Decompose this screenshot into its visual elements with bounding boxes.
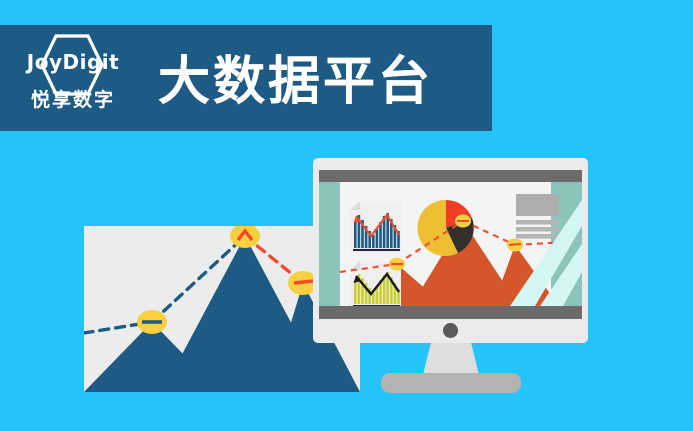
brand-logo: JoyDigit 悦享数字 (14, 32, 132, 124)
screen-content (319, 182, 582, 306)
header-banner: JoyDigit 悦享数字 大数据平台 (0, 25, 492, 131)
screen-band-left (319, 182, 340, 306)
page-title: 大数据平台 (158, 39, 433, 114)
monitor-power-button[interactable] (443, 323, 458, 338)
pie-chart (417, 200, 473, 256)
monitor-stand-neck (423, 343, 479, 375)
monitor-bottom-bezel (319, 306, 582, 319)
illustration-canvas: JoyDigit 悦享数字 大数据平台 (0, 0, 693, 431)
logo-text-cn: 悦享数字 (31, 85, 115, 112)
desktop-monitor (313, 158, 588, 343)
bar-chart-card-blue (350, 201, 401, 253)
logo-text-en: JoyDigit (27, 50, 119, 74)
monitor-top-bezel (319, 170, 582, 182)
monitor-screen (319, 182, 582, 306)
monitor-stand-base (381, 373, 521, 393)
